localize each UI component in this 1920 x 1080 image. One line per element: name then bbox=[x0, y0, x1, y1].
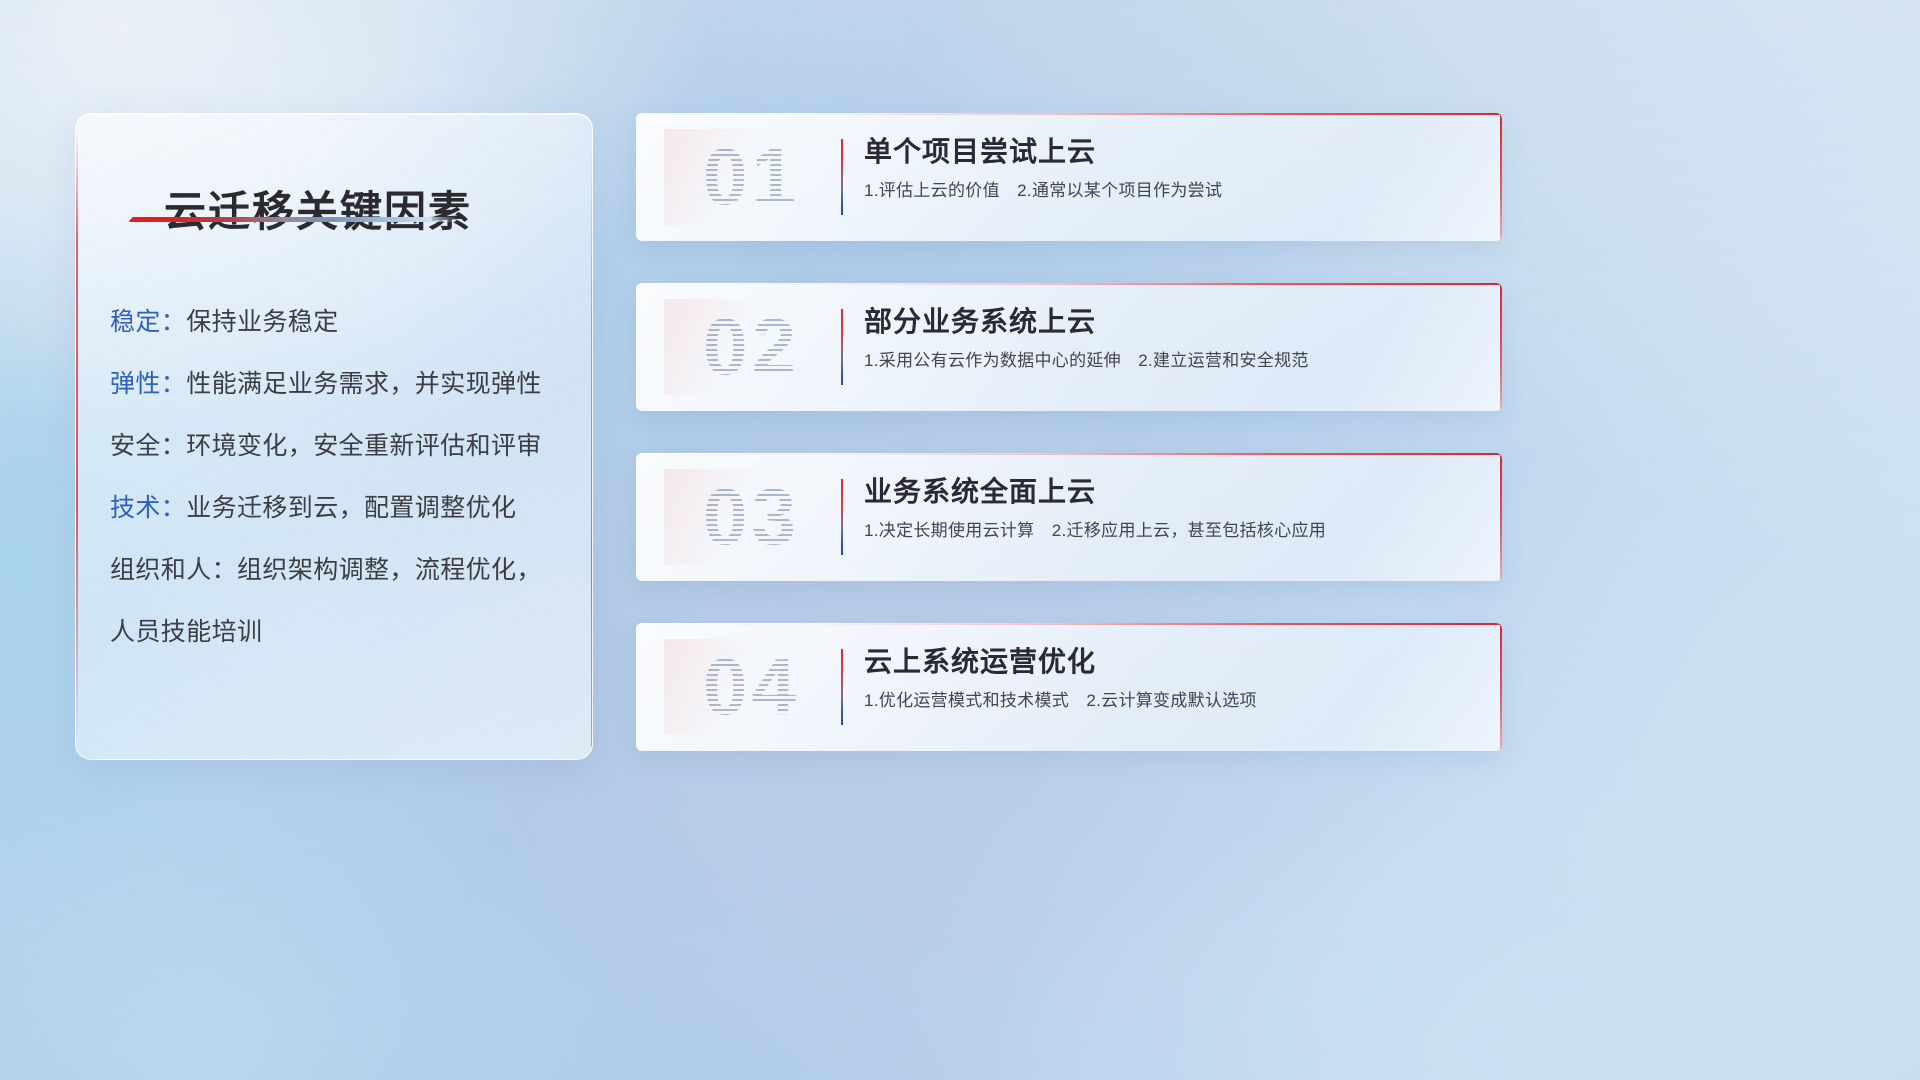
step-content: 业务系统全面上云1.决定长期使用云计算 2.迁移应用上云，甚至包括核心应用 bbox=[864, 477, 1478, 541]
step-vertical-divider bbox=[841, 479, 843, 555]
step-number-text: 04 bbox=[664, 639, 839, 735]
key-factor-label: 弹性： bbox=[110, 370, 186, 398]
step-title: 单个项目尝试上云 bbox=[864, 137, 1478, 168]
key-factor-item: 人员技能培训 bbox=[110, 620, 572, 645]
step-number-text: 02 bbox=[664, 299, 839, 395]
key-factor-item: 技术：业务迁移到云，配置调整优化 bbox=[110, 496, 572, 521]
migration-step-card[interactable]: 01单个项目尝试上云1.评估上云的价值 2.通常以某个项目作为尝试 bbox=[636, 113, 1502, 241]
key-factor-text: 环境变化，安全重新评估和评审 bbox=[186, 432, 542, 460]
step-number-ghost: 03 bbox=[664, 469, 839, 565]
key-factor-text: 业务迁移到云，配置调整优化 bbox=[186, 494, 516, 522]
step-number-ghost: 02 bbox=[664, 299, 839, 395]
card-right-accent-line bbox=[1500, 283, 1502, 411]
step-subtitle: 1.评估上云的价值 2.通常以某个项目作为尝试 bbox=[864, 181, 1478, 201]
key-factor-item: 组织和人：组织架构调整，流程优化， bbox=[110, 558, 572, 583]
card-top-accent-line bbox=[636, 453, 1502, 455]
key-factor-text: 组织架构调整，流程优化， bbox=[237, 556, 542, 584]
step-title: 部分业务系统上云 bbox=[864, 307, 1478, 338]
key-factors-panel: 云迁移关键因素 稳定：保持业务稳定弹性：性能满足业务需求，并实现弹性安全：环境变… bbox=[75, 113, 593, 760]
card-top-accent-line bbox=[636, 623, 1502, 625]
step-number-text: 03 bbox=[664, 469, 839, 565]
migration-steps-list: 01单个项目尝试上云1.评估上云的价值 2.通常以某个项目作为尝试02部分业务系… bbox=[636, 113, 1502, 751]
card-right-accent-line bbox=[1500, 453, 1502, 581]
title-underline-gradient bbox=[128, 217, 458, 222]
step-vertical-divider bbox=[841, 649, 843, 725]
card-top-accent-line bbox=[636, 283, 1502, 285]
page-title: 云迁移关键因素 bbox=[164, 178, 472, 239]
step-number-ghost: 01 bbox=[664, 129, 839, 225]
key-factor-label: 技术： bbox=[110, 494, 186, 522]
card-right-accent-line bbox=[1500, 623, 1502, 751]
key-factor-label: 组织和人： bbox=[110, 556, 237, 584]
card-right-accent-line bbox=[1500, 113, 1502, 241]
step-number-text: 01 bbox=[664, 129, 839, 225]
step-subtitle: 1.采用公有云作为数据中心的延伸 2.建立运营和安全规范 bbox=[864, 351, 1478, 371]
step-subtitle: 1.优化运营模式和技术模式 2.云计算变成默认选项 bbox=[864, 691, 1478, 711]
step-title: 业务系统全面上云 bbox=[864, 477, 1478, 508]
migration-step-card[interactable]: 02部分业务系统上云1.采用公有云作为数据中心的延伸 2.建立运营和安全规范 bbox=[636, 283, 1502, 411]
step-vertical-divider bbox=[841, 309, 843, 385]
step-content: 单个项目尝试上云1.评估上云的价值 2.通常以某个项目作为尝试 bbox=[864, 137, 1478, 201]
key-factor-text: 保持业务稳定 bbox=[186, 308, 338, 336]
key-factor-item: 安全：环境变化，安全重新评估和评审 bbox=[110, 434, 572, 459]
card-top-accent-line bbox=[636, 113, 1502, 115]
step-title: 云上系统运营优化 bbox=[864, 647, 1478, 678]
step-vertical-divider bbox=[841, 139, 843, 215]
step-content: 云上系统运营优化1.优化运营模式和技术模式 2.云计算变成默认选项 bbox=[864, 647, 1478, 711]
migration-step-card[interactable]: 03业务系统全面上云1.决定长期使用云计算 2.迁移应用上云，甚至包括核心应用 bbox=[636, 453, 1502, 581]
key-factors-list: 稳定：保持业务稳定弹性：性能满足业务需求，并实现弹性安全：环境变化，安全重新评估… bbox=[110, 310, 572, 645]
key-factor-item: 稳定：保持业务稳定 bbox=[110, 310, 572, 335]
step-content: 部分业务系统上云1.采用公有云作为数据中心的延伸 2.建立运营和安全规范 bbox=[864, 307, 1478, 371]
key-factor-label: 安全： bbox=[110, 432, 186, 460]
step-number-ghost: 04 bbox=[664, 639, 839, 735]
key-factor-text: 性能满足业务需求，并实现弹性 bbox=[186, 370, 542, 398]
key-factor-label: 稳定： bbox=[110, 308, 186, 336]
key-factor-text: 人员技能培训 bbox=[110, 618, 262, 646]
key-factor-item: 弹性：性能满足业务需求，并实现弹性 bbox=[110, 372, 572, 397]
migration-step-card[interactable]: 04云上系统运营优化1.优化运营模式和技术模式 2.云计算变成默认选项 bbox=[636, 623, 1502, 751]
step-subtitle: 1.决定长期使用云计算 2.迁移应用上云，甚至包括核心应用 bbox=[864, 521, 1478, 541]
